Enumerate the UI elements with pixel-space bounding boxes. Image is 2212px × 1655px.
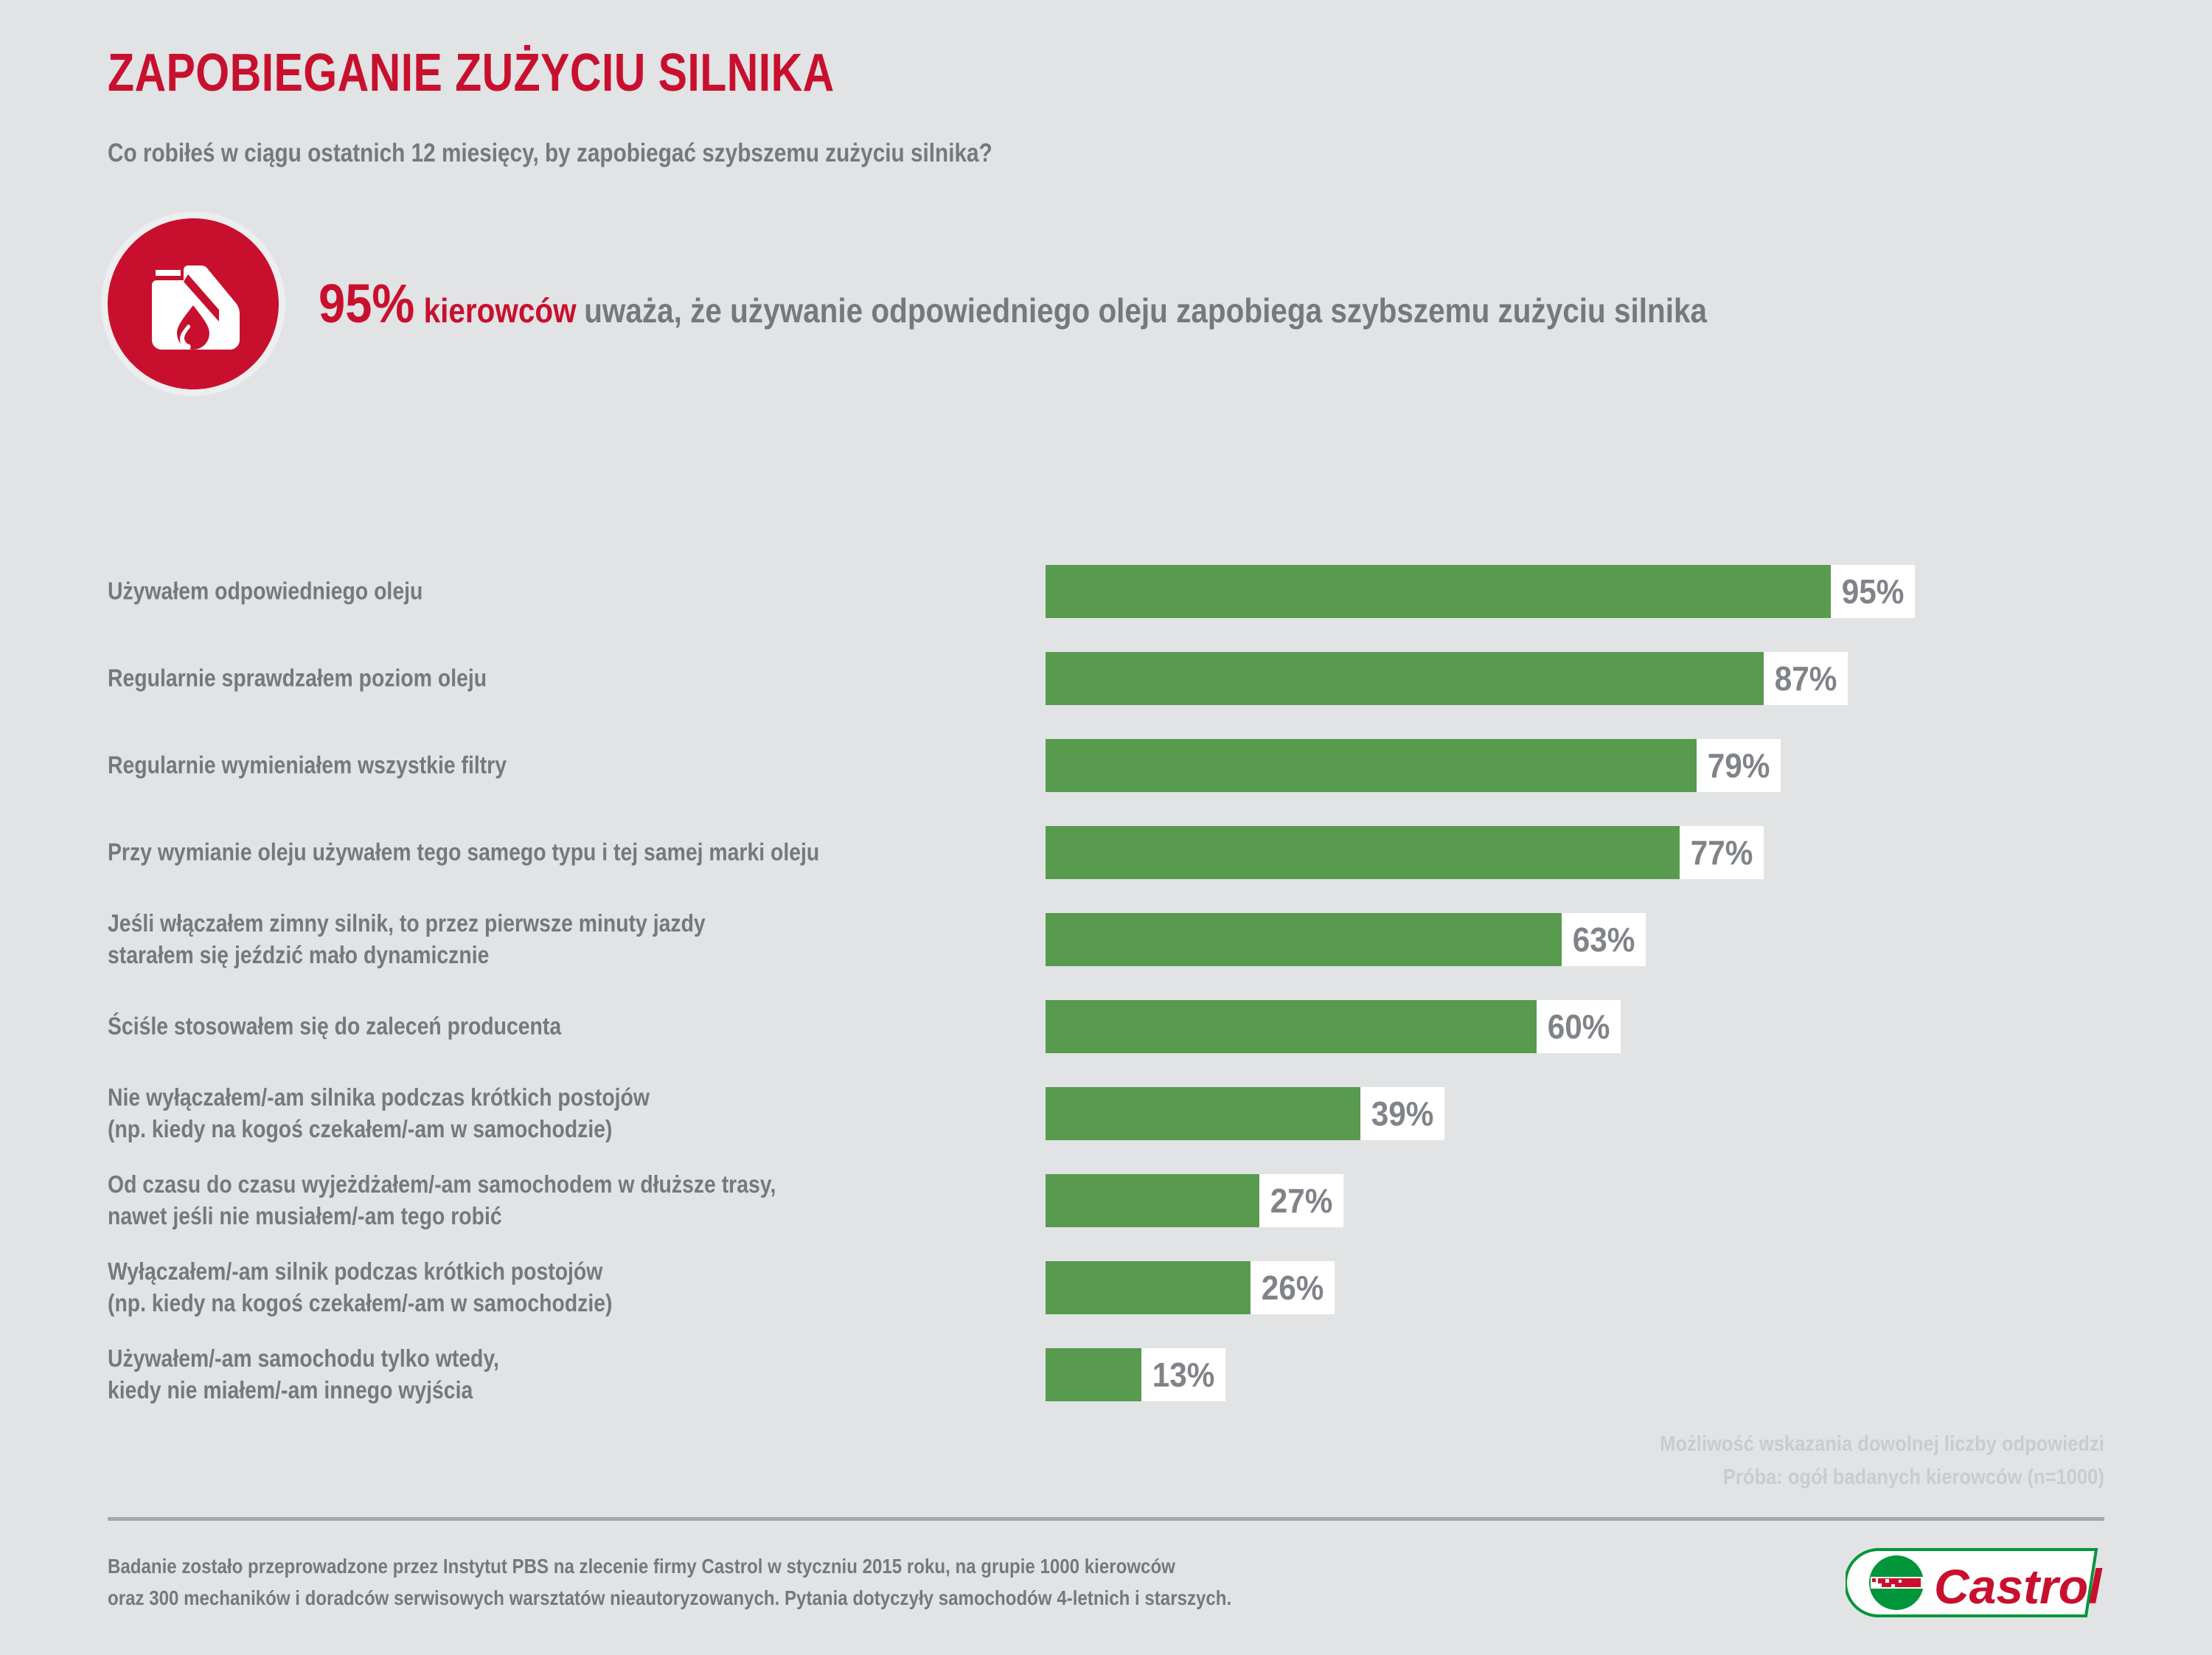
bar xyxy=(1046,739,1710,792)
bar-label: Regularnie wymieniałem wszystkie filtry xyxy=(108,750,507,782)
bar xyxy=(1046,1348,1155,1401)
oil-canister-icon xyxy=(108,218,279,389)
bar-label: Przy wymianie oleju używałem tego samego… xyxy=(108,837,819,869)
highlight-emphasis: kierowców xyxy=(424,291,577,330)
bar-value-label: 39% xyxy=(1360,1087,1444,1140)
bar-label: Wyłączałem/-am silnik podczas krótkich p… xyxy=(108,1256,612,1319)
chart-notes: Możliwość wskazania dowolnej liczby odpo… xyxy=(1660,1428,2104,1494)
castrol-logo: Castrol xyxy=(1846,1547,2104,1618)
table-row: Ściśle stosowałem się do zaleceń produce… xyxy=(0,1000,2212,1053)
bar-value-label: 27% xyxy=(1259,1174,1343,1227)
table-row: Nie wyłączałem/-am silnika podczas krótk… xyxy=(0,1087,2212,1140)
bar xyxy=(1046,652,1777,705)
bar-value-label: 60% xyxy=(1537,1000,1621,1053)
note-line-2: Próba: ogół badanych kierowców (n=1000) xyxy=(1660,1461,2104,1494)
note-line-1: Możliwość wskazania dowolnej liczby odpo… xyxy=(1660,1428,2104,1461)
bar-value-label: 95% xyxy=(1831,565,1915,618)
table-row: Używałem/-am samochodu tylko wtedy, kied… xyxy=(0,1348,2212,1401)
footer-methodology: Badanie zostało przeprowadzone przez Ins… xyxy=(108,1551,1231,1614)
bar-label: Ściśle stosowałem się do zaleceń produce… xyxy=(108,1011,561,1043)
bar xyxy=(1046,913,1575,966)
bar-label: Używałem odpowiedniego oleju xyxy=(108,576,422,608)
infographic-page: ZAPOBIEGANIE ZUŻYCIU SILNIKA Co robiłeś … xyxy=(0,0,2212,1655)
bar-label: Jeśli włączałem zimny silnik, to przez p… xyxy=(108,908,706,971)
table-row: Wyłączałem/-am silnik podczas krótkich p… xyxy=(0,1261,2212,1314)
page-title: ZAPOBIEGANIE ZUŻYCIU SILNIKA xyxy=(108,43,835,103)
highlight-text: 95% kierowców uważa, że używanie odpowie… xyxy=(319,277,1707,331)
highlight-rest: uważa, że używanie odpowiedniego oleju z… xyxy=(584,291,1707,330)
table-row: Jeśli włączałem zimny silnik, to przez p… xyxy=(0,913,2212,966)
bar xyxy=(1046,1261,1264,1314)
bar-label: Używałem/-am samochodu tylko wtedy, kied… xyxy=(108,1343,499,1406)
table-row: Regularnie sprawdzałem poziom oleju87% xyxy=(0,652,2212,705)
bar xyxy=(1046,826,1693,879)
table-row: Przy wymianie oleju używałem tego samego… xyxy=(0,826,2212,879)
bar-label: Nie wyłączałem/-am silnika podczas krótk… xyxy=(108,1082,650,1145)
table-row: Regularnie wymieniałem wszystkie filtry7… xyxy=(0,739,2212,792)
table-row: Od czasu do czasu wyjeżdżałem/-am samoch… xyxy=(0,1174,2212,1227)
bar xyxy=(1046,565,1844,618)
bar xyxy=(1046,1000,1550,1053)
highlight-percentage: 95% xyxy=(319,277,414,331)
footer-divider xyxy=(108,1517,2104,1521)
bar-value-label: 79% xyxy=(1697,739,1781,792)
bar xyxy=(1046,1087,1374,1140)
bar-label: Regularnie sprawdzałem poziom oleju xyxy=(108,663,487,695)
table-row: Używałem odpowiedniego oleju95% xyxy=(0,565,2212,618)
bar-value-label: 77% xyxy=(1680,826,1764,879)
bar-value-label: 63% xyxy=(1562,913,1646,966)
bar-value-label: 13% xyxy=(1141,1348,1225,1401)
page-subtitle: Co robiłeś w ciągu ostatnich 12 miesięcy… xyxy=(108,139,992,168)
bar-value-label: 26% xyxy=(1251,1261,1335,1314)
svg-text:Castrol: Castrol xyxy=(1934,1559,2103,1614)
bar xyxy=(1046,1174,1273,1227)
bar-value-label: 87% xyxy=(1764,652,1848,705)
highlight-callout: 95% kierowców uważa, że używanie odpowie… xyxy=(108,218,1896,389)
bar-label: Od czasu do czasu wyjeżdżałem/-am samoch… xyxy=(108,1169,776,1232)
